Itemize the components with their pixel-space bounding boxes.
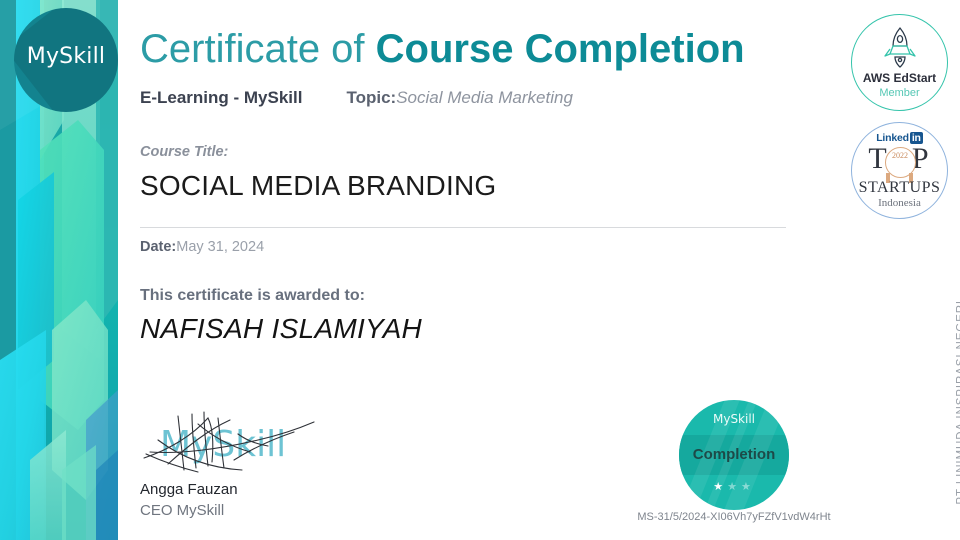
star-filled-icon: ★ bbox=[713, 481, 727, 493]
myskill-logo: MySkill bbox=[14, 8, 118, 112]
aws-badge-title: AWS EdStart bbox=[852, 71, 947, 85]
signer-name: Angga Fauzan bbox=[140, 481, 238, 498]
myskill-logo-label: MySkill bbox=[14, 44, 118, 69]
topic-value: Social Media Marketing bbox=[396, 88, 573, 107]
star-empty-icon: ★ bbox=[727, 481, 741, 493]
seal-brand-label: MySkill bbox=[679, 412, 789, 426]
star-empty-icon: ★ bbox=[741, 481, 755, 493]
signer-role: CEO MySkill bbox=[140, 502, 224, 519]
linkedin-startups-word: STARTUPS bbox=[852, 179, 947, 197]
signature-block: MySkill Angga Fauzan CEO MySkill bbox=[138, 410, 368, 530]
handwritten-signature-icon bbox=[138, 410, 318, 480]
completion-seal: MySkill Completion ★★★ bbox=[679, 400, 789, 510]
badge-aws-edstart: AWS EdStart Member bbox=[851, 14, 948, 111]
seal-star-rating: ★★★ bbox=[679, 480, 789, 493]
recipient-name: NAFISAH ISLAMIYAH bbox=[140, 313, 422, 345]
page-title: Certificate of Course Completion bbox=[140, 26, 745, 72]
rocket-icon bbox=[852, 25, 947, 74]
seal-status-label: Completion bbox=[679, 446, 789, 463]
badge-linkedin-top-startups: Linkedin TOP 2022 STARTUPS Indonesia bbox=[851, 122, 948, 219]
platform-label: E-Learning - MySkill bbox=[140, 88, 302, 107]
date-value: May 31, 2024 bbox=[176, 239, 264, 255]
linkedin-badge-year: 2022 bbox=[885, 151, 915, 160]
date-label: Date: bbox=[140, 239, 176, 255]
page-title-light: Certificate of bbox=[140, 27, 376, 71]
subtitle-row: E-Learning - MySkillTopic:Social Media M… bbox=[140, 88, 573, 108]
awarded-to-label: This certificate is awarded to: bbox=[140, 287, 365, 305]
course-title-label: Course Title: bbox=[140, 144, 228, 160]
course-title-value: SOCIAL MEDIA BRANDING bbox=[140, 170, 496, 202]
page-title-bold: Course Completion bbox=[376, 27, 745, 71]
linkedin-country-label: Indonesia bbox=[852, 197, 947, 209]
certificate-page: MySkill Certificate of Course Completion… bbox=[0, 0, 960, 540]
topic-label: Topic: bbox=[346, 88, 396, 107]
certificate-id: MS-31/5/2024-XI06Vh7yFZfV1vdW4rHt bbox=[604, 511, 864, 523]
date-row: Date:May 31, 2024 bbox=[140, 239, 264, 255]
aws-badge-subtitle: Member bbox=[852, 87, 947, 99]
company-legal-name: PT LINIMUDA INSPIRASI NEGERI bbox=[956, 300, 960, 505]
divider bbox=[140, 227, 786, 228]
